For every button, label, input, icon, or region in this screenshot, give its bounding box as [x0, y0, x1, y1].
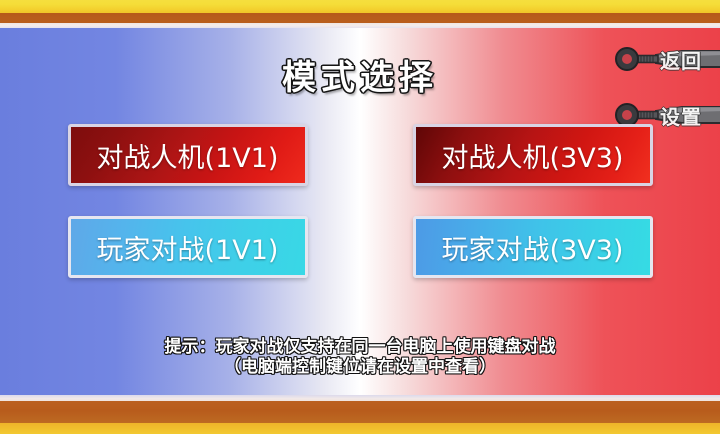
mode-row-ai: 对战人机(1V1) 对战人机(3V3)	[0, 124, 720, 186]
frame-band-brown-bottom	[0, 401, 720, 423]
content-stage: 模式选择 返回	[0, 28, 720, 395]
mode-selection-screen: 模式选择 返回	[0, 0, 720, 434]
frame-band-gold-bottom	[0, 423, 720, 434]
hint-line-1: 提示：玩家对战仅支持在同一台电脑上使用键盘对战	[0, 337, 720, 357]
frame-band-gold-top	[0, 0, 720, 13]
mode-button-grid: 对战人机(1V1) 对战人机(3V3) 玩家对战(1V1) 玩家对战(3V3)	[0, 124, 720, 278]
mode-button-player-3v3[interactable]: 玩家对战(3V3)	[413, 216, 653, 278]
mode-row-player: 玩家对战(1V1) 玩家对战(3V3)	[0, 216, 720, 278]
mode-button-label: 玩家对战(3V3)	[442, 228, 624, 267]
mode-button-ai-1v1[interactable]: 对战人机(1V1)	[68, 124, 308, 186]
mode-button-label: 玩家对战(1V1)	[97, 228, 279, 267]
hint-text: 提示：玩家对战仅支持在同一台电脑上使用键盘对战 （电脑端控制键位请在设置中查看）	[0, 337, 720, 377]
back-button-label: 返回	[660, 45, 720, 74]
mode-button-player-1v1[interactable]: 玩家对战(1V1)	[68, 216, 308, 278]
mode-button-label: 对战人机(3V3)	[442, 136, 624, 175]
mode-button-ai-3v3[interactable]: 对战人机(3V3)	[413, 124, 653, 186]
back-button[interactable]: 返回	[612, 46, 720, 72]
hint-line-2: （电脑端控制键位请在设置中查看）	[0, 357, 720, 377]
frame-band-brown-top	[0, 13, 720, 23]
mode-button-label: 对战人机(1V1)	[97, 136, 279, 175]
